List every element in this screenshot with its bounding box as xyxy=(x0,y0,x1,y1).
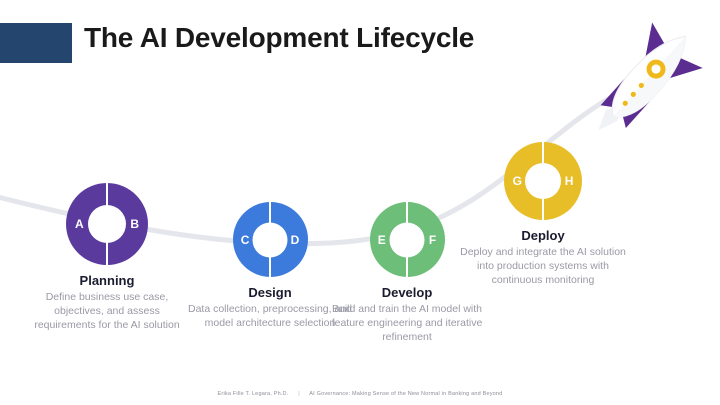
stage-develop-description: Build and train the AI model with featur… xyxy=(312,303,502,345)
stage-deploy-letter-right: H xyxy=(565,175,574,187)
stage-planning-donut-split xyxy=(106,183,108,265)
stage-deploy-donut[interactable]: G H xyxy=(504,142,582,220)
stage-deploy-letter-left: G xyxy=(513,175,522,187)
stage-planning-donut[interactable]: A B xyxy=(66,183,148,265)
stage-develop-donut-split xyxy=(406,202,408,277)
page-title: The AI Development Lifecycle xyxy=(84,22,474,54)
stage-design-letter-right: D xyxy=(291,234,300,246)
stage-deploy-donut-split xyxy=(542,142,544,220)
stage-deploy-title: Deploy xyxy=(448,228,638,243)
footer-author: Erika Fille T. Legara, Ph.D. xyxy=(218,391,289,397)
stage-planning-letter-left: A xyxy=(75,218,84,230)
stage-planning-description: Define business use case, objectives, an… xyxy=(12,291,202,333)
stage-planning-title: Planning xyxy=(12,273,202,288)
slide-footer: Erika Fille T. Legara, Ph.D. | AI Govern… xyxy=(0,391,720,397)
stage-design-donut-split xyxy=(269,202,271,277)
stage-planning[interactable]: A B Planning Define business use case, o… xyxy=(12,183,202,333)
stage-develop-donut[interactable]: E F xyxy=(370,202,445,277)
footer-source: AI Governance: Making Sense of the New N… xyxy=(309,391,502,397)
stage-develop-letter-left: E xyxy=(378,234,386,246)
stage-planning-letter-right: B xyxy=(130,218,139,230)
title-accent-block xyxy=(0,23,72,63)
footer-separator: | xyxy=(290,391,308,397)
stage-design-letter-left: C xyxy=(241,234,250,246)
stage-deploy-description: Deploy and integrate the AI solution int… xyxy=(448,246,638,288)
stage-design-donut[interactable]: C D xyxy=(233,202,308,277)
rocket-icon xyxy=(575,14,711,155)
stage-deploy[interactable]: G H Deploy Deploy and integrate the AI s… xyxy=(448,142,638,288)
slide-canvas: The AI Development Lifecycle xyxy=(0,0,720,405)
stage-develop-letter-right: F xyxy=(429,234,436,246)
